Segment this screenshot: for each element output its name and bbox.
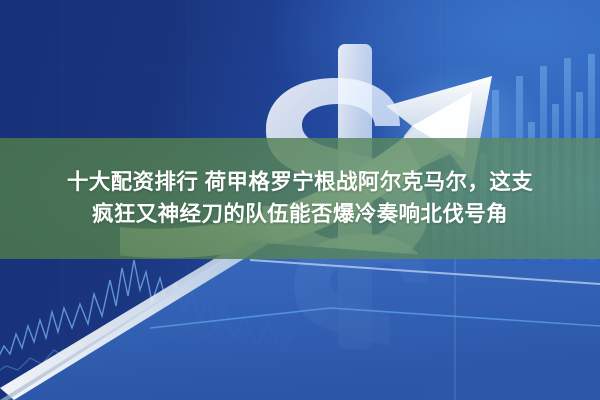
banner-image: 十大配资排行 荷甲格罗宁根战阿尔克马尔，这支 疯狂又神经刀的队伍能否爆冷奏响北伐… <box>0 0 600 400</box>
headline-block: 十大配资排行 荷甲格罗宁根战阿尔克马尔，这支 疯狂又神经刀的队伍能否爆冷奏响北伐… <box>0 138 600 259</box>
headline-line-1: 十大配资排行 荷甲格罗宁根战阿尔克马尔，这支 <box>67 171 533 194</box>
headline-line-2: 疯狂又神经刀的队伍能否爆冷奏响北伐号角 <box>92 203 508 226</box>
diagonal-ribbon <box>0 238 600 400</box>
